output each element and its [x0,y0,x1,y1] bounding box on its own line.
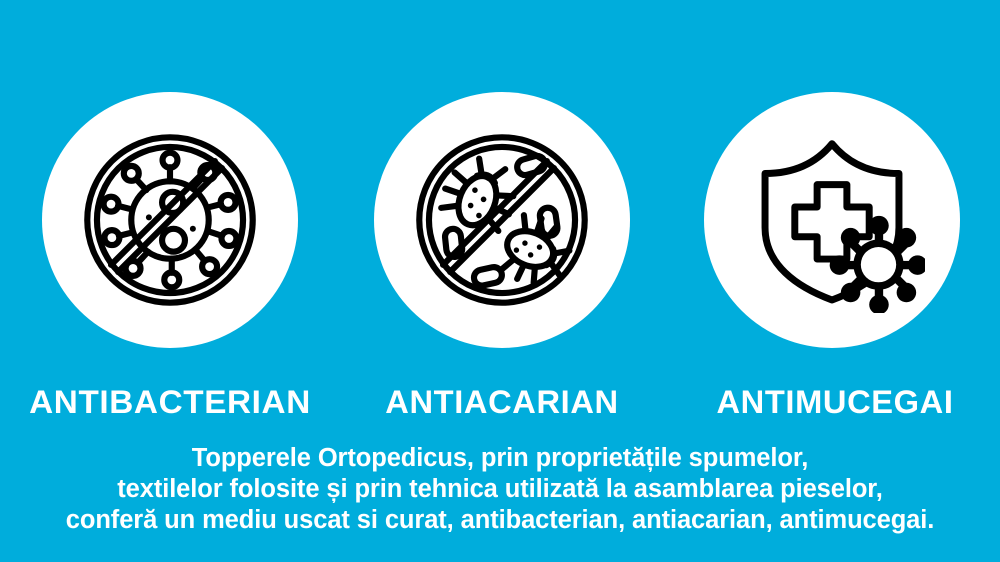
no-virus-icon [82,132,258,308]
badge-labels: ANTIBACTERIAN ANTIACARIAN ANTIMUCEGAI [0,385,1000,425]
badge-antiacarian [374,92,630,348]
badge-row [0,92,1000,350]
description-paragraph: Topperele Ortopedicus, prin proprietățil… [0,443,1000,536]
badge-label-antimucegai: ANTIMUCEGAI [662,385,1000,419]
promo-poster: ANTIBACTERIAN ANTIACARIAN ANTIMUCEGAI To… [0,0,1000,562]
badge-label-antiacarian: ANTIACARIAN [327,385,678,419]
badge-antimucegai [704,92,960,348]
description-line-1: Topperele Ortopedicus, prin proprietățil… [0,443,1000,474]
shield-cross-virus-icon [739,127,925,313]
description-line-2: textilelor folosite și prin tehnica util… [0,474,1000,505]
description-line-3: conferă un mediu uscat si curat, antibac… [0,505,1000,536]
badge-label-antibacterian: ANTIBACTERIAN [0,385,347,419]
no-dust-mite-icon [414,132,590,308]
badge-antibacterian [42,92,298,348]
